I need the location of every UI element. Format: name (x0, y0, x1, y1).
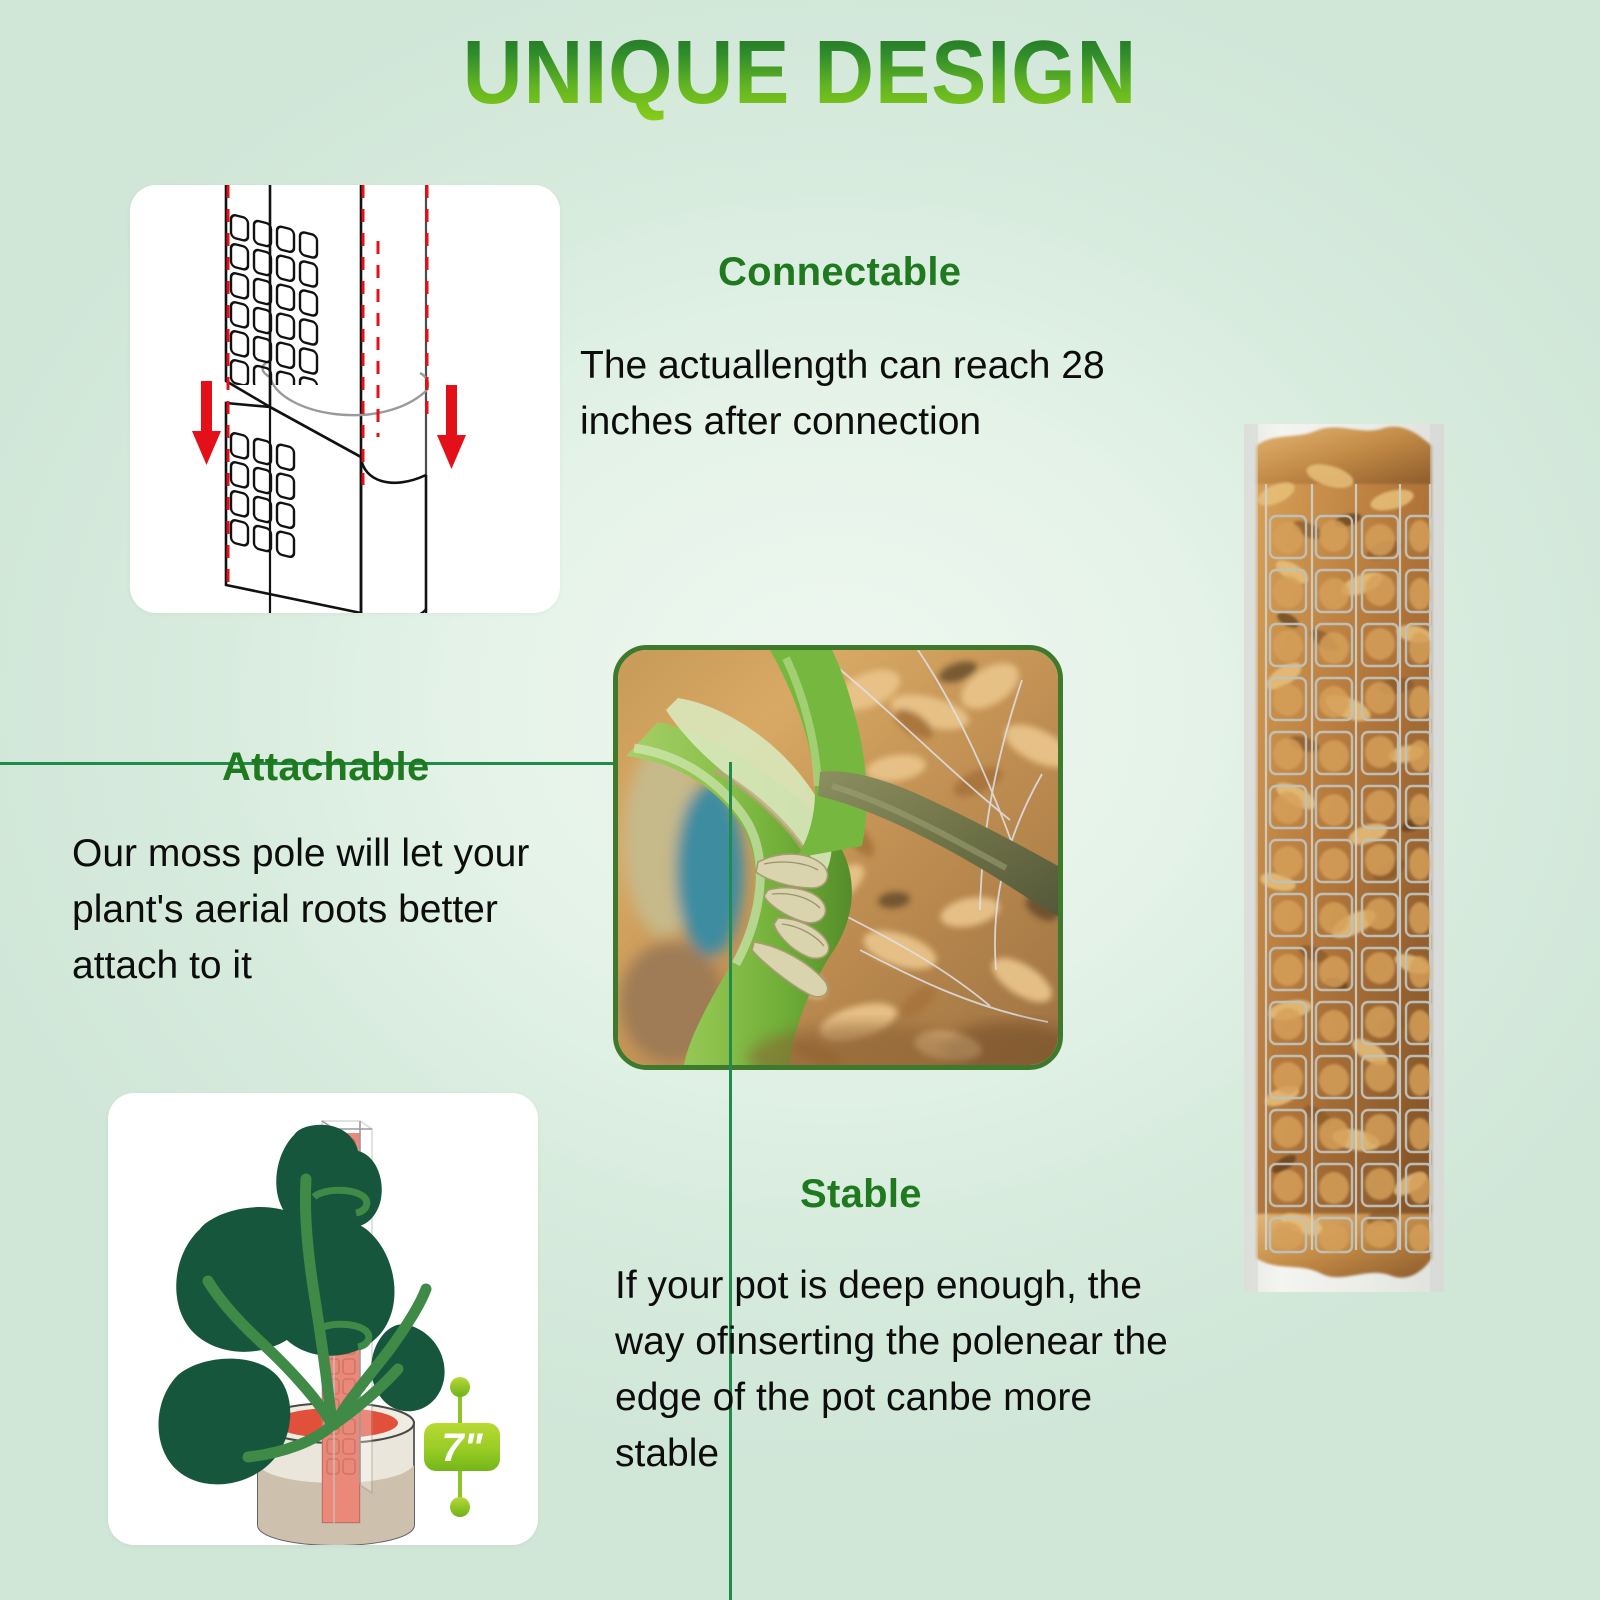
pot-diagram-icon: 7" (108, 1093, 538, 1545)
infographic-canvas: UNIQUE DESIGN (0, 0, 1600, 1600)
connector-diagram-icon (130, 185, 560, 613)
down-arrow-right-icon (437, 385, 466, 469)
feature-body-connectable: The actuallength can reach 28 inches aft… (580, 338, 1140, 450)
aerial-roots-photo (613, 645, 1063, 1070)
feature-body-stable: If your pot is deep enough, the way ofin… (615, 1258, 1175, 1483)
badge-label: 7" (441, 1426, 483, 1470)
pot-diagram-card: 7" (108, 1093, 538, 1545)
moss-pole-photo (1244, 424, 1444, 1292)
moss-pole-photo-image (1244, 424, 1444, 1292)
connector-diagram-card (130, 185, 560, 613)
feature-title-connectable: Connectable (718, 250, 961, 295)
feature-title-attachable: Attachable (222, 745, 430, 790)
aerial-roots-photo-image (618, 650, 1058, 1065)
down-arrow-left-icon (192, 381, 221, 465)
feature-body-attachable: Our moss pole will let your plant's aeri… (72, 826, 612, 994)
feature-title-stable: Stable (800, 1172, 922, 1217)
page-title: UNIQUE DESIGN (64, 22, 1536, 125)
